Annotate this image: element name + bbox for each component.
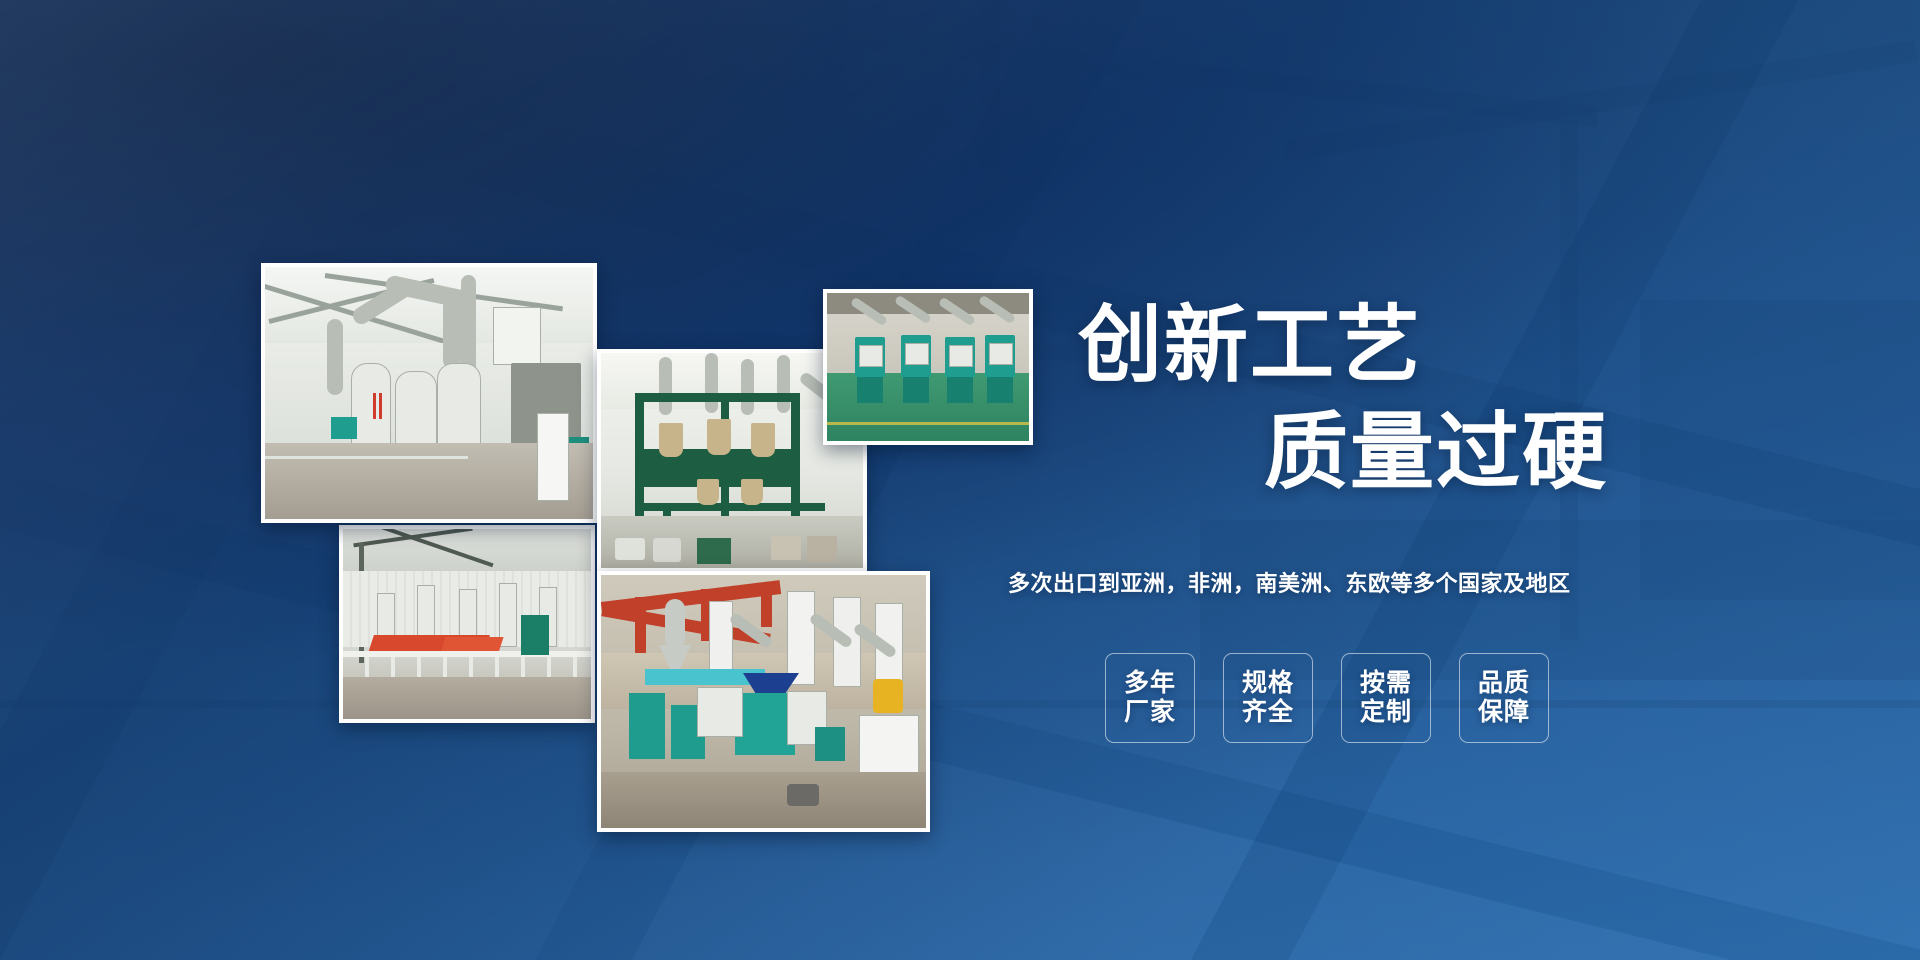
feature-badges: 多年 厂家 规格 齐全 按需 定制 品质 保障 <box>1105 653 1549 743</box>
badge-line-top: 品质 <box>1478 669 1530 699</box>
headline-line-2: 质量过硬 <box>1078 403 1608 502</box>
photo-teal-mill-red-beams <box>597 571 930 832</box>
badge-line-bottom: 齐全 <box>1242 698 1294 728</box>
badge-line-bottom: 保障 <box>1478 698 1530 728</box>
badge-line-top: 按需 <box>1360 669 1412 699</box>
badge-line-top: 规格 <box>1242 669 1294 699</box>
hero-banner: 创新工艺 质量过硬 多次出口到亚洲，非洲，南美洲、东欧等多个国家及地区 多年 厂… <box>0 0 1920 960</box>
badge-line-bottom: 厂家 <box>1124 698 1176 728</box>
photo-milling-line-ducts <box>261 263 597 523</box>
badge-custom-made[interactable]: 按需 定制 <box>1341 653 1431 743</box>
photo-teal-machines-green-floor <box>823 289 1033 445</box>
badge-full-specifications[interactable]: 规格 齐全 <box>1223 653 1313 743</box>
badge-quality-guarantee[interactable]: 品质 保障 <box>1459 653 1549 743</box>
badge-line-bottom: 定制 <box>1360 698 1412 728</box>
headline: 创新工艺 质量过硬 <box>1078 296 1638 502</box>
badge-line-top: 多年 <box>1124 669 1176 699</box>
subtitle: 多次出口到亚洲，非洲，南美洲、东欧等多个国家及地区 <box>1008 566 1571 598</box>
photo-factory-conveyor-line <box>339 525 595 723</box>
badge-years-manufacturer[interactable]: 多年 厂家 <box>1105 653 1195 743</box>
headline-line-1: 创新工艺 <box>1078 296 1638 395</box>
